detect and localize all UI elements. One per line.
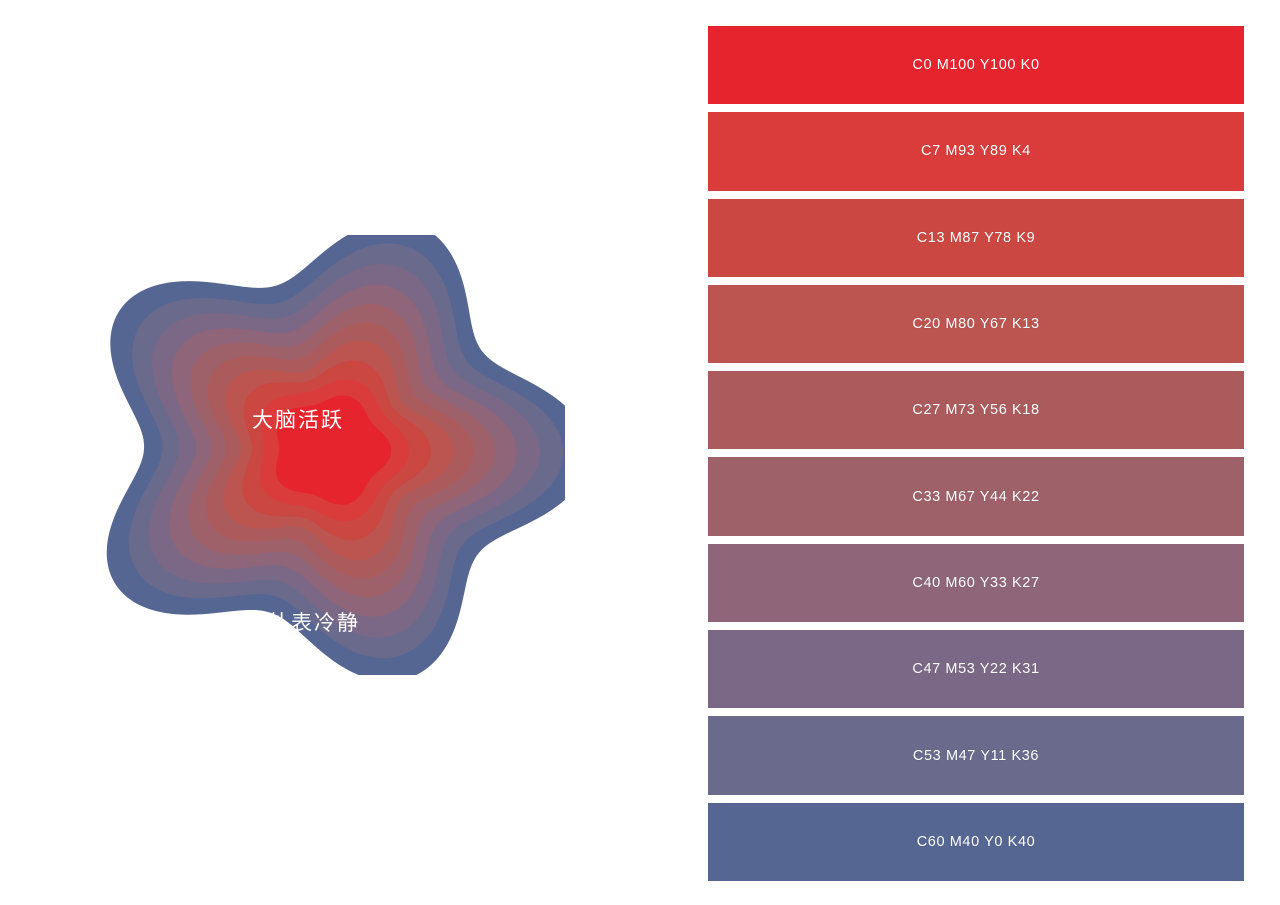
- color-swatch-label: C20 M80 Y67 K13: [912, 316, 1039, 332]
- page-root: 大脑活跃 外表冷静 C0 M100 Y100 K0C7 M93 Y89 K4C1…: [0, 0, 1280, 905]
- color-swatch[interactable]: C47 M53 Y22 K31: [708, 630, 1244, 708]
- color-swatch-label: C60 M40 Y0 K40: [917, 834, 1036, 850]
- color-swatch-label: C53 M47 Y11 K36: [913, 748, 1039, 764]
- color-swatch-label: C13 M87 Y78 K9: [917, 230, 1036, 246]
- color-swatch-label: C0 M100 Y100 K0: [912, 57, 1039, 73]
- blob-panel: 大脑活跃 外表冷静: [0, 0, 690, 905]
- color-swatch-label: C7 M93 Y89 K4: [921, 143, 1031, 159]
- color-swatch[interactable]: C40 M60 Y33 K27: [708, 544, 1244, 622]
- color-swatch-label: C47 M53 Y22 K31: [912, 661, 1039, 677]
- color-swatch[interactable]: C33 M67 Y44 K22: [708, 457, 1244, 535]
- color-swatch-label: C40 M60 Y33 K27: [912, 575, 1039, 591]
- color-swatch-label: C33 M67 Y44 K22: [912, 489, 1039, 505]
- color-swatch[interactable]: C13 M87 Y78 K9: [708, 199, 1244, 277]
- color-swatch-label: C27 M73 Y56 K18: [912, 402, 1039, 418]
- blob-outer-label: 外表冷静: [268, 607, 360, 637]
- color-swatch[interactable]: C60 M40 Y0 K40: [708, 803, 1244, 881]
- color-swatch[interactable]: C53 M47 Y11 K36: [708, 716, 1244, 794]
- color-swatch[interactable]: C27 M73 Y56 K18: [708, 371, 1244, 449]
- color-swatch[interactable]: C20 M80 Y67 K13: [708, 285, 1244, 363]
- color-swatch[interactable]: C0 M100 Y100 K0: [708, 26, 1244, 104]
- blob-core-label: 大脑活跃: [252, 404, 344, 434]
- color-swatch[interactable]: C7 M93 Y89 K4: [708, 112, 1244, 190]
- cmyk-swatch-list: C0 M100 Y100 K0C7 M93 Y89 K4C13 M87 Y78 …: [708, 26, 1244, 881]
